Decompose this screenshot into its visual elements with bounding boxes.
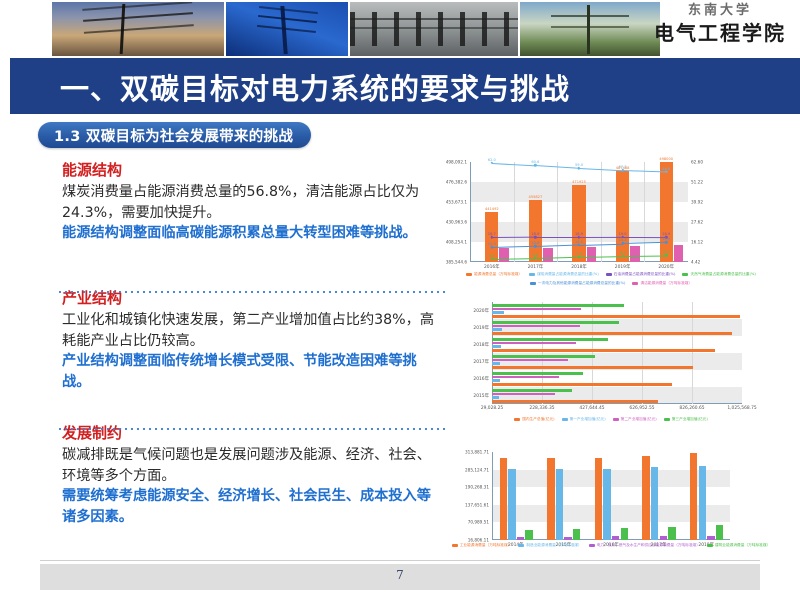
bar-2 <box>492 342 576 345</box>
legend-swatch <box>664 418 670 421</box>
block-note: 能源结构调整面临高碳能源积累总量大转型困难等挑战。 <box>62 223 444 244</box>
line-value-label: 15.9 <box>662 237 670 241</box>
block-note: 产业结构调整面临传统增长模式受限、节能改造困难等挑战。 <box>62 351 444 392</box>
bar-1 <box>651 467 658 540</box>
y-axis-tick: 2017年 <box>473 359 489 365</box>
x-axis-tick: 2018年 <box>571 264 587 270</box>
bar-energy-total <box>660 162 673 262</box>
line-value-label: 60.6 <box>531 160 539 164</box>
bar-1 <box>492 362 500 365</box>
legend-label: 电力、热力、燃气及水生产和供应业能源消费量（万吨标准煤） <box>597 543 700 548</box>
legend-item: 一次电力及其他能源消费量占能源消费总量的比重(%) <box>530 281 626 286</box>
x-axis-tick: 228,336.35 <box>529 406 554 411</box>
y-axis-tick: 408,254.1 <box>446 240 467 245</box>
legend-item: 第一产业增加值(亿元) <box>562 417 606 422</box>
bar-1 <box>492 345 501 348</box>
x-axis-tick: 2017年 <box>528 264 544 270</box>
line-value-label: 15.2 <box>619 238 627 242</box>
x-axis <box>492 403 742 404</box>
line-value-label: 18.7 <box>488 232 496 236</box>
y-axis-tick: 2019年 <box>473 325 489 331</box>
line-value-label: 59.0 <box>575 163 583 167</box>
bar-clean-energy <box>630 246 640 262</box>
line-value-label: 13.6 <box>531 241 539 245</box>
block-industrial-structure: 产业结构 工业化和城镇化快速发展，第二产业增加值占比约38%，高耗能产业占比仍较… <box>62 288 444 423</box>
bar-value-label: 471925 <box>572 180 586 184</box>
chart-legend-energy: 能源消费总量（万吨标准煤）煤炭消费量占能源消费总量的比重(%)石油消费量占能源消… <box>446 272 776 286</box>
line-value-label: 8.1 <box>620 251 626 255</box>
line-value-label: 7.6 <box>576 252 582 256</box>
legend-swatch <box>589 544 595 547</box>
legend-label: 第二产业增加值(亿元) <box>621 417 657 422</box>
photo-substation-equipment <box>350 2 518 56</box>
bar-2 <box>492 325 580 328</box>
left-white-rail <box>0 58 10 558</box>
x-axis-tick: 427,644.45 <box>579 406 604 411</box>
bar-3 <box>525 530 532 540</box>
bar-0 <box>492 315 740 318</box>
page-title-text: 一、双碳目标对电力系统的要求与挑战 <box>60 66 570 108</box>
block-body: 工业化和城镇化快速发展，第二产业增加值占比约38%，高耗能产业占比仍较高。 <box>62 310 444 351</box>
section-pill: 1.3 双碳目标为社会发展带来的挑战 <box>38 122 311 148</box>
y-axis <box>470 162 471 262</box>
bar-0 <box>492 366 693 369</box>
legend-item: 制造业能源消费量（万吨标准煤） <box>518 543 581 548</box>
legend-item: 电力、热力、燃气及水生产和供应业能源消费量（万吨标准煤） <box>589 543 700 548</box>
section-pill-label: 1.3 双碳目标为社会发展带来的挑战 <box>54 125 293 146</box>
y-axis-tick: 313,881.71 <box>465 450 489 455</box>
bar-3 <box>492 355 595 358</box>
bar-2 <box>492 376 559 379</box>
bar-3 <box>716 525 723 540</box>
line-value-label: 62.0 <box>488 158 496 162</box>
y2-axis-tick: 51.22 <box>691 180 703 185</box>
bar-1 <box>492 396 499 399</box>
y-axis-tick: 2015年 <box>473 393 489 399</box>
bar-1 <box>492 328 502 331</box>
text-column: 能源结构 煤炭消费量占能源消费总量的56.8%，清洁能源占比仅为24.3%，需要… <box>62 160 444 527</box>
bar-3 <box>492 321 619 324</box>
bar-clean-energy <box>499 248 509 262</box>
block-heading: 能源结构 <box>62 160 444 180</box>
y2-axis-tick: 4.42 <box>691 260 700 265</box>
bar-2 <box>492 393 555 396</box>
chart-plot-area: 2015年2016年2017年2018年2019年2020年29,028.252… <box>492 302 742 404</box>
y-axis <box>492 452 493 540</box>
grid-line-v <box>644 162 645 262</box>
x-axis-tick: 826,260.65 <box>679 406 704 411</box>
legend-swatch <box>606 273 612 276</box>
y-axis-tick: 2018年 <box>473 342 489 348</box>
bar-3 <box>621 528 628 540</box>
y-axis-tick: 16,806.11 <box>468 538 489 543</box>
line-value-label: 18.9 <box>531 232 539 236</box>
bar-0 <box>642 456 649 540</box>
legend-swatch <box>514 418 520 421</box>
y-axis-tick: 190,268.31 <box>465 485 489 490</box>
y-axis-tick: 70,989.51 <box>468 520 489 525</box>
legend-label: 建筑业能源消费量（万吨标准煤） <box>715 543 770 548</box>
chart-plot-area: 313,881.71285,124.71190,268.31137,651.61… <box>492 452 730 540</box>
legend-item: 第三产业增加值(亿元) <box>664 417 708 422</box>
bar-2 <box>564 537 571 540</box>
line-value-label: 18.9 <box>662 232 670 236</box>
line-value-label: 57.7 <box>619 165 627 169</box>
y-axis-tick: 476,382.6 <box>446 180 467 185</box>
legend-swatch <box>518 544 524 547</box>
legend-swatch <box>682 273 688 276</box>
line-value-label: 56.8 <box>662 167 670 171</box>
bar-energy-total <box>572 185 585 262</box>
slide: 东南大学 电气工程学院 一、双碳目标对电力系统的要求与挑战 1.3 双碳目标为社… <box>0 0 800 600</box>
legend-swatch <box>707 544 713 547</box>
chart-energy-structure: 498,092.1476,382.6453,673.1430,963.6408,… <box>470 162 688 262</box>
legend-item: 国内生产总值(亿元) <box>514 417 554 422</box>
legend-item: 第二产业增加值(亿元) <box>613 417 657 422</box>
y2-axis-tick: 39.92 <box>691 200 703 205</box>
bar-0 <box>595 458 602 540</box>
y-axis-tick: 2016年 <box>473 376 489 382</box>
bar-1 <box>603 469 610 540</box>
chart-legend-gdp: 国内生产总值(亿元)第一产业增加值(亿元)第二产业增加值(亿元)第三产业增加值(… <box>446 417 776 422</box>
legend-item: 能源消费总量（万吨标准煤） <box>466 272 522 277</box>
bar-1 <box>492 379 500 382</box>
legend-item: 建筑业能源消费量（万吨标准煤） <box>707 543 770 548</box>
chart-plot-area: 498,092.1476,382.6453,673.1430,963.6408,… <box>470 162 688 262</box>
bar-clean-energy <box>543 248 553 262</box>
header-photo-band: 东南大学 电气工程学院 <box>0 0 800 58</box>
bar-1 <box>508 469 515 540</box>
line-value-label: 18.9 <box>575 232 583 236</box>
line-value-label: 14.5 <box>575 240 583 244</box>
bar-value-label: 455827 <box>529 195 543 199</box>
line-segment <box>579 256 623 258</box>
legend-swatch <box>452 544 458 547</box>
chart-industry-energy: 313,881.71285,124.71190,268.31137,651.61… <box>492 452 730 540</box>
bar-2 <box>517 537 524 540</box>
bar-0 <box>690 453 697 540</box>
bar-2 <box>492 308 581 311</box>
bar-2 <box>707 536 714 541</box>
y-axis-tick: 285,124.71 <box>465 467 489 472</box>
legend-swatch <box>632 282 638 285</box>
legend-swatch <box>530 282 536 285</box>
y-axis-tick: 430,963.6 <box>446 220 467 225</box>
line-value-label: 8.4 <box>663 250 669 254</box>
grid-line-v <box>557 162 558 262</box>
legend-label: 天然气消费量占能源消费总量的比重(%) <box>690 272 755 277</box>
block-body: 煤炭消费量占能源消费总量的56.8%，清洁能源占比仅为24.3%，需要加快提升。 <box>62 182 444 223</box>
block-energy-structure: 能源结构 煤炭消费量占能源消费总量的56.8%，清洁能源占比仅为24.3%，需要… <box>62 160 444 288</box>
bar-2 <box>660 536 667 540</box>
bar-clean-energy <box>587 247 597 262</box>
bar-0 <box>500 458 507 540</box>
photo-transmission-tower-sunset <box>52 2 224 56</box>
bar-3 <box>492 372 583 375</box>
legend-item: 工业能源消费量（万吨标准煤） <box>452 543 512 548</box>
legend-label: 煤炭消费量占能源消费总量的比重(%) <box>537 272 599 277</box>
grid-line-v <box>601 162 602 262</box>
legend-label: 国内生产总值(亿元) <box>522 417 554 422</box>
bar-0 <box>492 383 672 386</box>
line-segment <box>623 255 667 257</box>
bar-3 <box>668 527 675 540</box>
legend-swatch <box>466 273 472 276</box>
y-axis-tick: 385,544.6 <box>446 260 467 265</box>
y2-axis-tick: 62.60 <box>691 160 703 165</box>
divider-dotted-2 <box>57 428 449 430</box>
legend-label: 清洁能源消费量（万吨标准煤） <box>640 281 692 286</box>
x-axis-tick: 2019年 <box>615 264 631 270</box>
bar-value-label: 441492 <box>485 207 499 211</box>
y2-axis-tick: 27.62 <box>691 220 703 225</box>
bar-3 <box>492 304 624 307</box>
legend-label: 第一产业增加值(亿元) <box>570 417 606 422</box>
bar-1 <box>492 311 504 314</box>
legend-label: 第三产业增加值(亿元) <box>672 417 708 422</box>
block-body: 碳减排既是气候问题也是发展问题涉及能源、经济、社会、环境等多个方面。 <box>62 445 444 486</box>
legend-item: 石油消费量占能源消费总量的比重(%) <box>606 272 676 277</box>
bar-1 <box>556 469 563 540</box>
x-axis-tick: 29,028.25 <box>481 406 503 411</box>
university-logo: 东南大学 电气工程学院 <box>654 2 786 46</box>
legend-swatch <box>562 418 568 421</box>
legend-swatch <box>529 273 535 276</box>
logo-university-name: 东南大学 <box>654 2 786 20</box>
x-axis-tick: 626,952.55 <box>629 406 654 411</box>
bar-3 <box>492 389 572 392</box>
y-axis-tick: 137,651.61 <box>465 502 489 507</box>
bar-energy-total <box>616 171 629 262</box>
block-heading: 发展制约 <box>62 423 444 443</box>
photo-transmission-tower-blue-sky <box>226 2 348 56</box>
divider-dotted-1 <box>57 291 449 293</box>
legend-swatch <box>613 418 619 421</box>
y-axis-tick: 498,092.1 <box>446 160 467 165</box>
page-number: 7 <box>0 568 800 582</box>
bar-0 <box>492 332 732 335</box>
line-segment <box>623 237 667 238</box>
line-segment <box>535 237 579 238</box>
x-axis-tick: 2016年 <box>484 264 500 270</box>
logo-school-name: 电气工程学院 <box>654 20 786 46</box>
legend-item: 煤炭消费量占能源消费总量的比重(%) <box>529 272 599 277</box>
line-value-label: 19.0 <box>619 232 627 236</box>
page-title: 一、双碳目标对电力系统的要求与挑战 <box>60 64 760 110</box>
chart-legend-industry: 工业能源消费量（万吨标准煤）制造业能源消费量（万吨标准煤）电力、热力、燃气及水生… <box>446 543 776 548</box>
bar-clean-energy <box>674 245 684 262</box>
bar-3 <box>573 529 580 540</box>
line-value-label: 6.4 <box>489 254 495 258</box>
line-value-label: 12.9 <box>488 242 496 246</box>
bar-0 <box>492 349 715 352</box>
legend-item: 清洁能源消费量（万吨标准煤） <box>632 281 692 286</box>
block-note: 需要统筹考虑能源安全、经济增长、社会民生、成本投入等诸多因素。 <box>62 486 444 527</box>
y2-axis-tick: 16.12 <box>691 240 703 245</box>
bar-1 <box>699 466 706 540</box>
x-axis-tick: 1,025,568.75 <box>727 406 756 411</box>
line-value-label: 6.9 <box>533 253 539 257</box>
bar-2 <box>612 536 619 540</box>
bar-3 <box>492 338 608 341</box>
legend-label: 能源消费总量（万吨标准煤） <box>474 272 522 277</box>
photo-power-line-field <box>520 2 660 56</box>
bar-2 <box>492 359 568 362</box>
bar-value-label: 498000 <box>659 157 673 161</box>
bar-0 <box>492 400 658 403</box>
legend-item: 天然气消费量占能源消费总量的比重(%) <box>682 272 755 277</box>
legend-label: 石油消费量占能源消费总量的比重(%) <box>614 272 676 277</box>
y-axis-tick: 453,673.1 <box>446 200 467 205</box>
legend-label: 制造业能源消费量（万吨标准煤） <box>526 543 581 548</box>
y-axis-tick: 2020年 <box>473 308 489 314</box>
block-development-constraint: 发展制约 碳减排既是气候问题也是发展问题涉及能源、经济、社会、环境等多个方面。 … <box>62 423 444 527</box>
x-axis-tick: 2020年 <box>658 264 674 270</box>
chart-gdp-industry: 2015年2016年2017年2018年2019年2020年29,028.252… <box>492 302 742 404</box>
bar-0 <box>547 458 554 540</box>
legend-label: 一次电力及其他能源消费量占能源消费总量的比重(%) <box>538 281 626 286</box>
footer-rule <box>40 560 760 561</box>
legend-label: 工业能源消费量（万吨标准煤） <box>460 543 512 548</box>
